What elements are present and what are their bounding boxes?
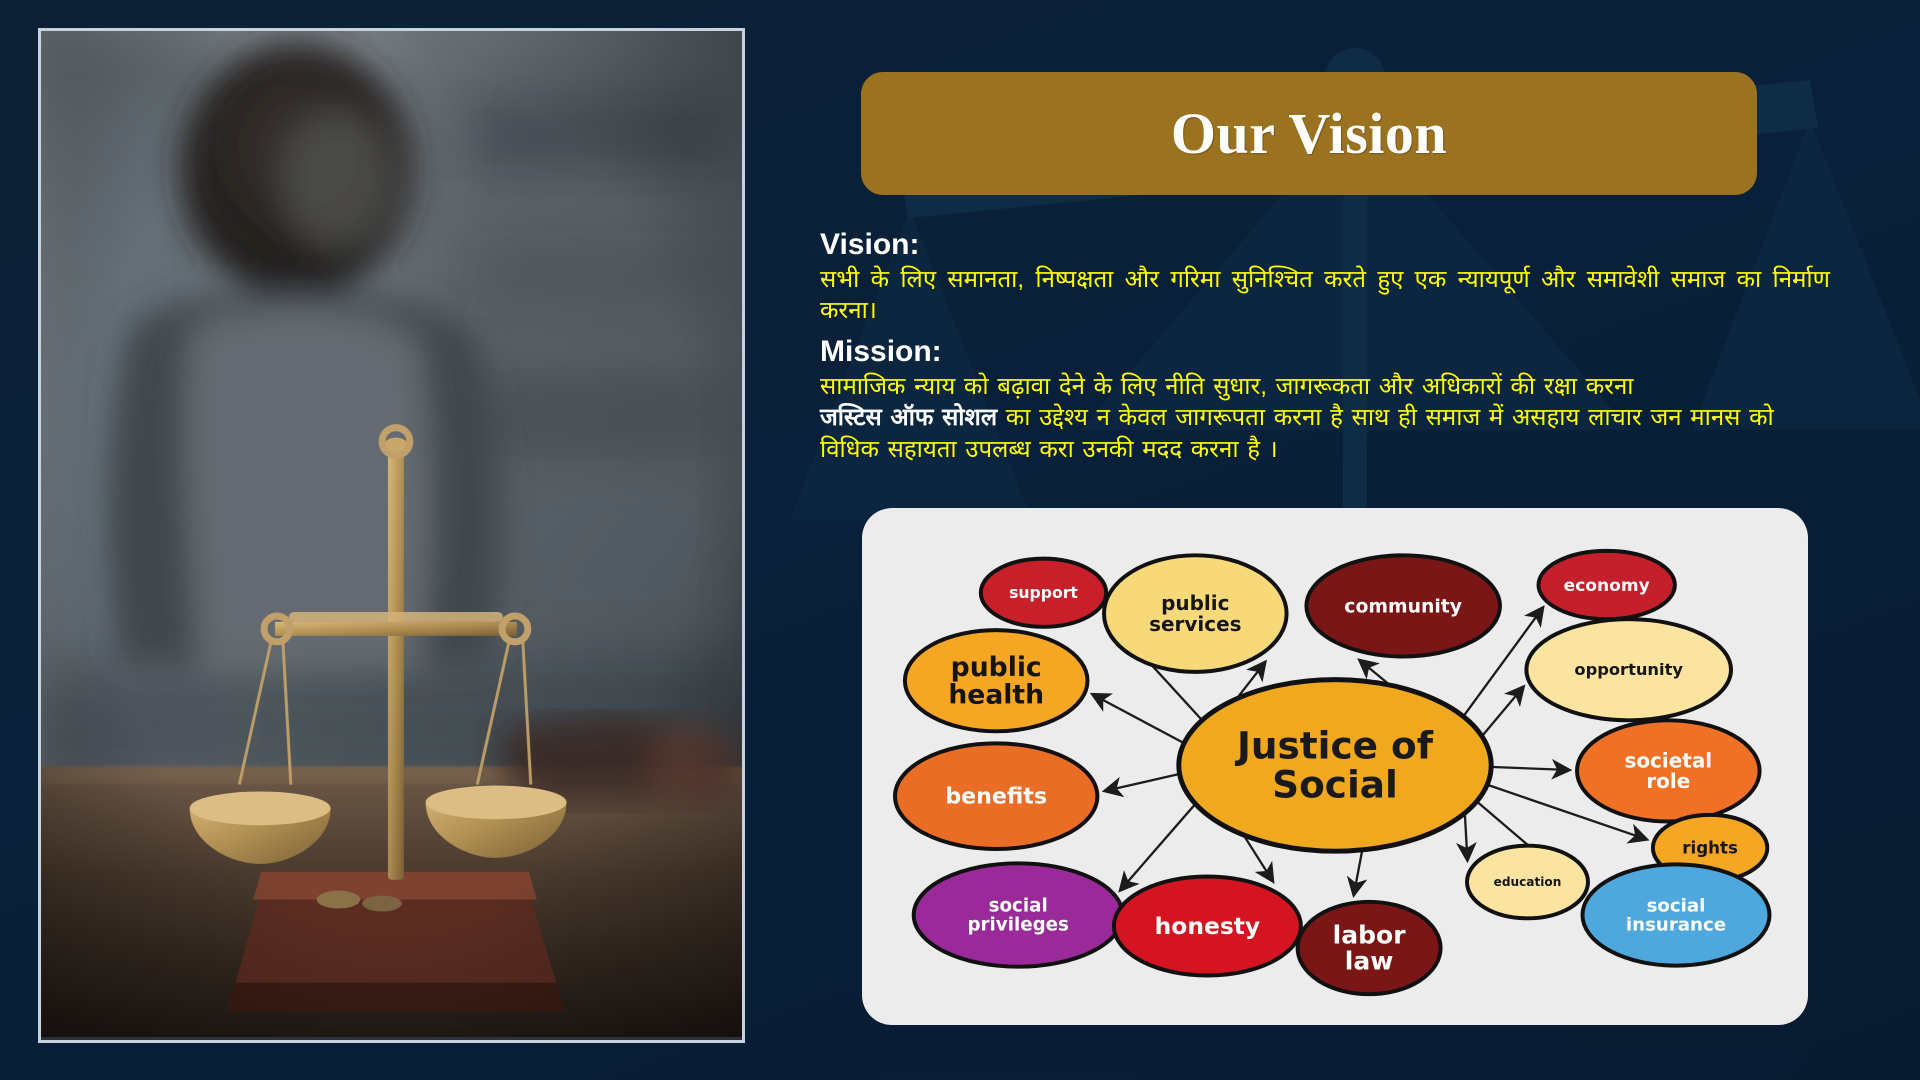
mission-org-name: जस्टिस ऑफ सोशल (820, 404, 997, 431)
mindmap-node: socialinsurance (1583, 864, 1770, 965)
vision-mission-text-block: Vision: सभी के लिए समानता, निष्पक्षता और… (820, 228, 1830, 466)
vision-label: Vision: (820, 228, 1830, 262)
mindmap-reflection (862, 1027, 1808, 1080)
slide-canvas: Our Vision Vision: सभी के लिए समानता, नि… (0, 0, 1920, 1080)
mindmap-node: opportunity (1526, 619, 1731, 720)
mission-paragraph-2: जस्टिस ऑफ सोशल का उद्देश्य न केवल जागरूप… (820, 402, 1830, 465)
mindmap-node: benefits (895, 743, 1097, 849)
mindmap-center-node: Justice ofSocial (1179, 680, 1491, 852)
vision-paragraph: सभी के लिए समानता, निष्पक्षता और गरिमा स… (820, 264, 1830, 327)
mission-paragraph: सामाजिक न्याय को बढ़ावा देने के लिए नीति… (820, 371, 1830, 403)
mindmap-node: economy (1539, 551, 1675, 619)
mindmap-node: socialprivileges (914, 863, 1123, 966)
justice-of-social-mindmap: Justice ofSocial supportpublicservicesco… (862, 508, 1808, 1025)
mindmap-node: societalrole (1577, 720, 1760, 821)
mission-label: Mission: (820, 335, 1830, 369)
mindmap-node: support (981, 559, 1106, 627)
mindmap-node: honesty (1114, 877, 1301, 976)
mindmap-node: publicservices (1104, 555, 1287, 672)
scales-of-justice-photo (38, 28, 745, 1043)
mindmap-node: publichealth (905, 630, 1088, 731)
mindmap-node: education (1467, 846, 1588, 919)
mindmap-node: community (1306, 555, 1500, 656)
mindmap-node: laborlaw (1298, 902, 1441, 994)
page-title: Our Vision (1171, 100, 1447, 167)
slide-title-banner: Our Vision (861, 72, 1757, 195)
